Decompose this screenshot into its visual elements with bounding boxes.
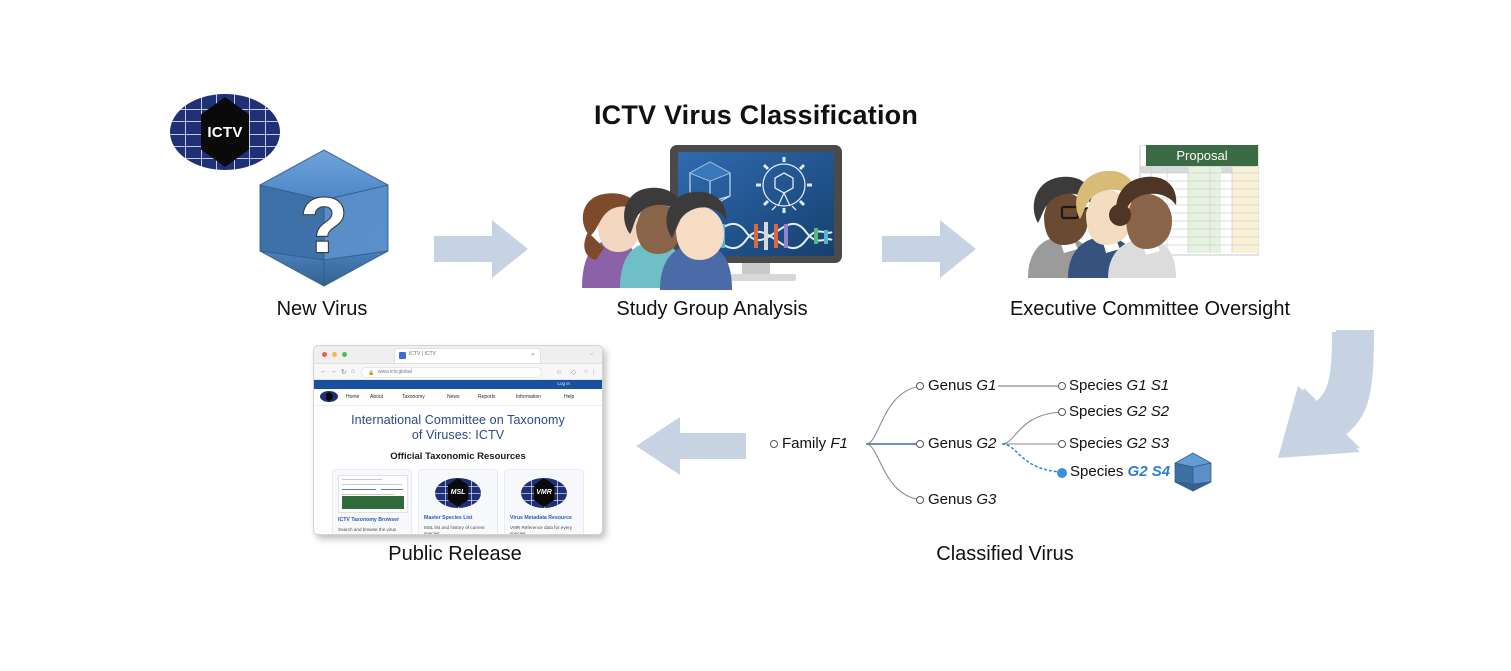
caption-study-group: Study Group Analysis [562, 298, 862, 321]
back-icon[interactable]: ← [320, 368, 327, 375]
window-minimize-button[interactable] [332, 352, 337, 357]
page-title: ICTV Virus Classification [580, 100, 932, 131]
profile-icon[interactable]: ○ [584, 368, 588, 375]
tab-favicon-icon [399, 352, 406, 359]
tree-bullet-genus-g3[interactable] [916, 496, 924, 504]
window-maximize-button[interactable] [342, 352, 347, 357]
logo-text: ICTV [207, 124, 242, 141]
arrow-left-icon [634, 415, 746, 477]
study-group-illustration [560, 140, 850, 290]
nav-item-taxonomy[interactable]: Taxonomy [402, 394, 425, 400]
tree-node-genus-g2[interactable]: Genus G2 [928, 435, 996, 452]
site-section-heading: Official Taxonomic Resources [314, 451, 602, 462]
tree-bullet-species-g2s4[interactable] [1057, 468, 1067, 478]
card-description: MSL list and history of current species [424, 525, 492, 535]
site-logo-icon[interactable] [320, 391, 338, 402]
home-icon[interactable]: ⌂ [351, 368, 355, 375]
resource-card-master-species-list[interactable]: MSL Master Species List MSL list and his… [418, 469, 498, 536]
card-thumbnail-screenshot [338, 475, 408, 513]
taxonomy-tree: Family F1 Genus G1 Genus G2 Genus G3 Spe… [770, 368, 1210, 518]
executive-committee-illustration: Proposal [1020, 145, 1260, 280]
tree-node-species-g1s1[interactable]: Species G1 S1 [1069, 377, 1169, 394]
chevron-down-icon[interactable]: ⌵ [589, 351, 594, 358]
login-link[interactable]: Log In [557, 381, 570, 386]
url-text: www.ictv.global [378, 369, 412, 375]
card-description: VMR Reference data for every species [510, 525, 578, 535]
browser-window[interactable]: ICTV | ICTV ✕ ⌵ ← → ↻ ⌂ 🔒 www.ictv.globa… [313, 345, 603, 535]
nav-item-help[interactable]: Help [564, 394, 574, 400]
nav-item-news[interactable]: News [447, 394, 460, 400]
site-title-line-1: International Committee on Taxonomy [314, 413, 602, 428]
lock-icon: 🔒 [368, 370, 374, 376]
card-title: Virus Metadata Resource [510, 515, 578, 522]
tree-node-species-g2s3[interactable]: Species G2 S3 [1069, 435, 1169, 452]
menu-icon[interactable]: ⋮ [591, 368, 598, 376]
card-description: Search and browse the virus taxonomy [338, 527, 406, 535]
forward-icon[interactable]: → [330, 368, 337, 375]
tree-node-species-g2s2[interactable]: Species G2 S2 [1069, 403, 1169, 420]
spreadsheet-header-label: Proposal [1176, 148, 1227, 163]
card-emblem-msl-icon: MSL [424, 475, 492, 511]
window-close-button[interactable] [322, 352, 327, 357]
bookmark-icon[interactable]: ☆ [556, 368, 562, 376]
browser-titlebar: ICTV | ICTV ✕ ⌵ [314, 346, 602, 364]
extensions-icon[interactable]: ◇ [571, 368, 576, 376]
diagram-canvas: ICTV Virus Classification ICTV [0, 0, 1511, 671]
card-title: ICTV Taxonomy Browser [338, 517, 406, 524]
caption-new-virus: New Virus [222, 298, 422, 321]
tree-node-species-g2s4[interactable]: Species G2 S4 [1070, 463, 1170, 480]
tree-node-genus-g1[interactable]: Genus G1 [928, 377, 996, 394]
tree-bullet-species-g2s3[interactable] [1058, 440, 1066, 448]
url-input[interactable]: 🔒 www.ictv.global [361, 367, 542, 378]
tab-close-icon[interactable]: ✕ [531, 352, 535, 358]
resource-card-list: ICTV Taxonomy Browser Search and browse … [314, 469, 602, 536]
site-topbar: Log In [314, 380, 602, 389]
tree-bullet-genus-g1[interactable] [916, 382, 924, 390]
classified-virus-icon [1174, 452, 1212, 492]
arrow-curved-down-left-icon [1270, 330, 1380, 470]
reload-icon[interactable]: ↻ [341, 368, 346, 376]
nav-item-home[interactable]: Home [346, 394, 359, 400]
site-title-line-2: of Viruses: ICTV [314, 428, 602, 443]
resource-card-virus-metadata-resource[interactable]: VMR Virus Metadata Resource VMR Referenc… [504, 469, 584, 536]
caption-classified-virus: Classified Virus [880, 543, 1130, 566]
resource-card-taxonomy-browser[interactable]: ICTV Taxonomy Browser Search and browse … [332, 469, 412, 536]
tree-bullet-family[interactable] [770, 440, 778, 448]
caption-public-release: Public Release [330, 543, 580, 566]
arrow-right-1-icon [434, 218, 530, 280]
card-emblem-text: MSL [451, 489, 466, 496]
tree-node-family[interactable]: Family F1 [782, 435, 848, 452]
card-emblem-text: VMR [536, 489, 552, 496]
question-mark-icon: ? [300, 181, 348, 269]
virus-icosahedron-icon: ? [258, 148, 390, 288]
tree-bullet-genus-g2[interactable] [916, 440, 924, 448]
site-navbar: Home About Taxonomy News Reports Informa… [314, 389, 602, 406]
nav-item-information[interactable]: Information [516, 394, 541, 400]
card-title: Master Species List [424, 515, 492, 522]
site-title: International Committee on Taxonomy of V… [314, 413, 602, 444]
card-emblem-vmr-icon: VMR [510, 475, 578, 511]
browser-tab[interactable]: ICTV | ICTV ✕ [394, 348, 541, 363]
nav-item-reports[interactable]: Reports [478, 394, 496, 400]
tree-bullet-species-g2s2[interactable] [1058, 408, 1066, 416]
tree-bullet-species-g1s1[interactable] [1058, 382, 1066, 390]
nav-item-about[interactable]: About [370, 394, 383, 400]
browser-addressbar: ← → ↻ ⌂ 🔒 www.ictv.global ☆ ◇ ○ ⋮ [314, 364, 602, 380]
caption-exec-committee: Executive Committee Oversight [960, 298, 1340, 321]
tree-node-genus-g3[interactable]: Genus G3 [928, 491, 996, 508]
arrow-right-2-icon [882, 218, 978, 280]
tab-title: ICTV | ICTV [409, 351, 436, 357]
